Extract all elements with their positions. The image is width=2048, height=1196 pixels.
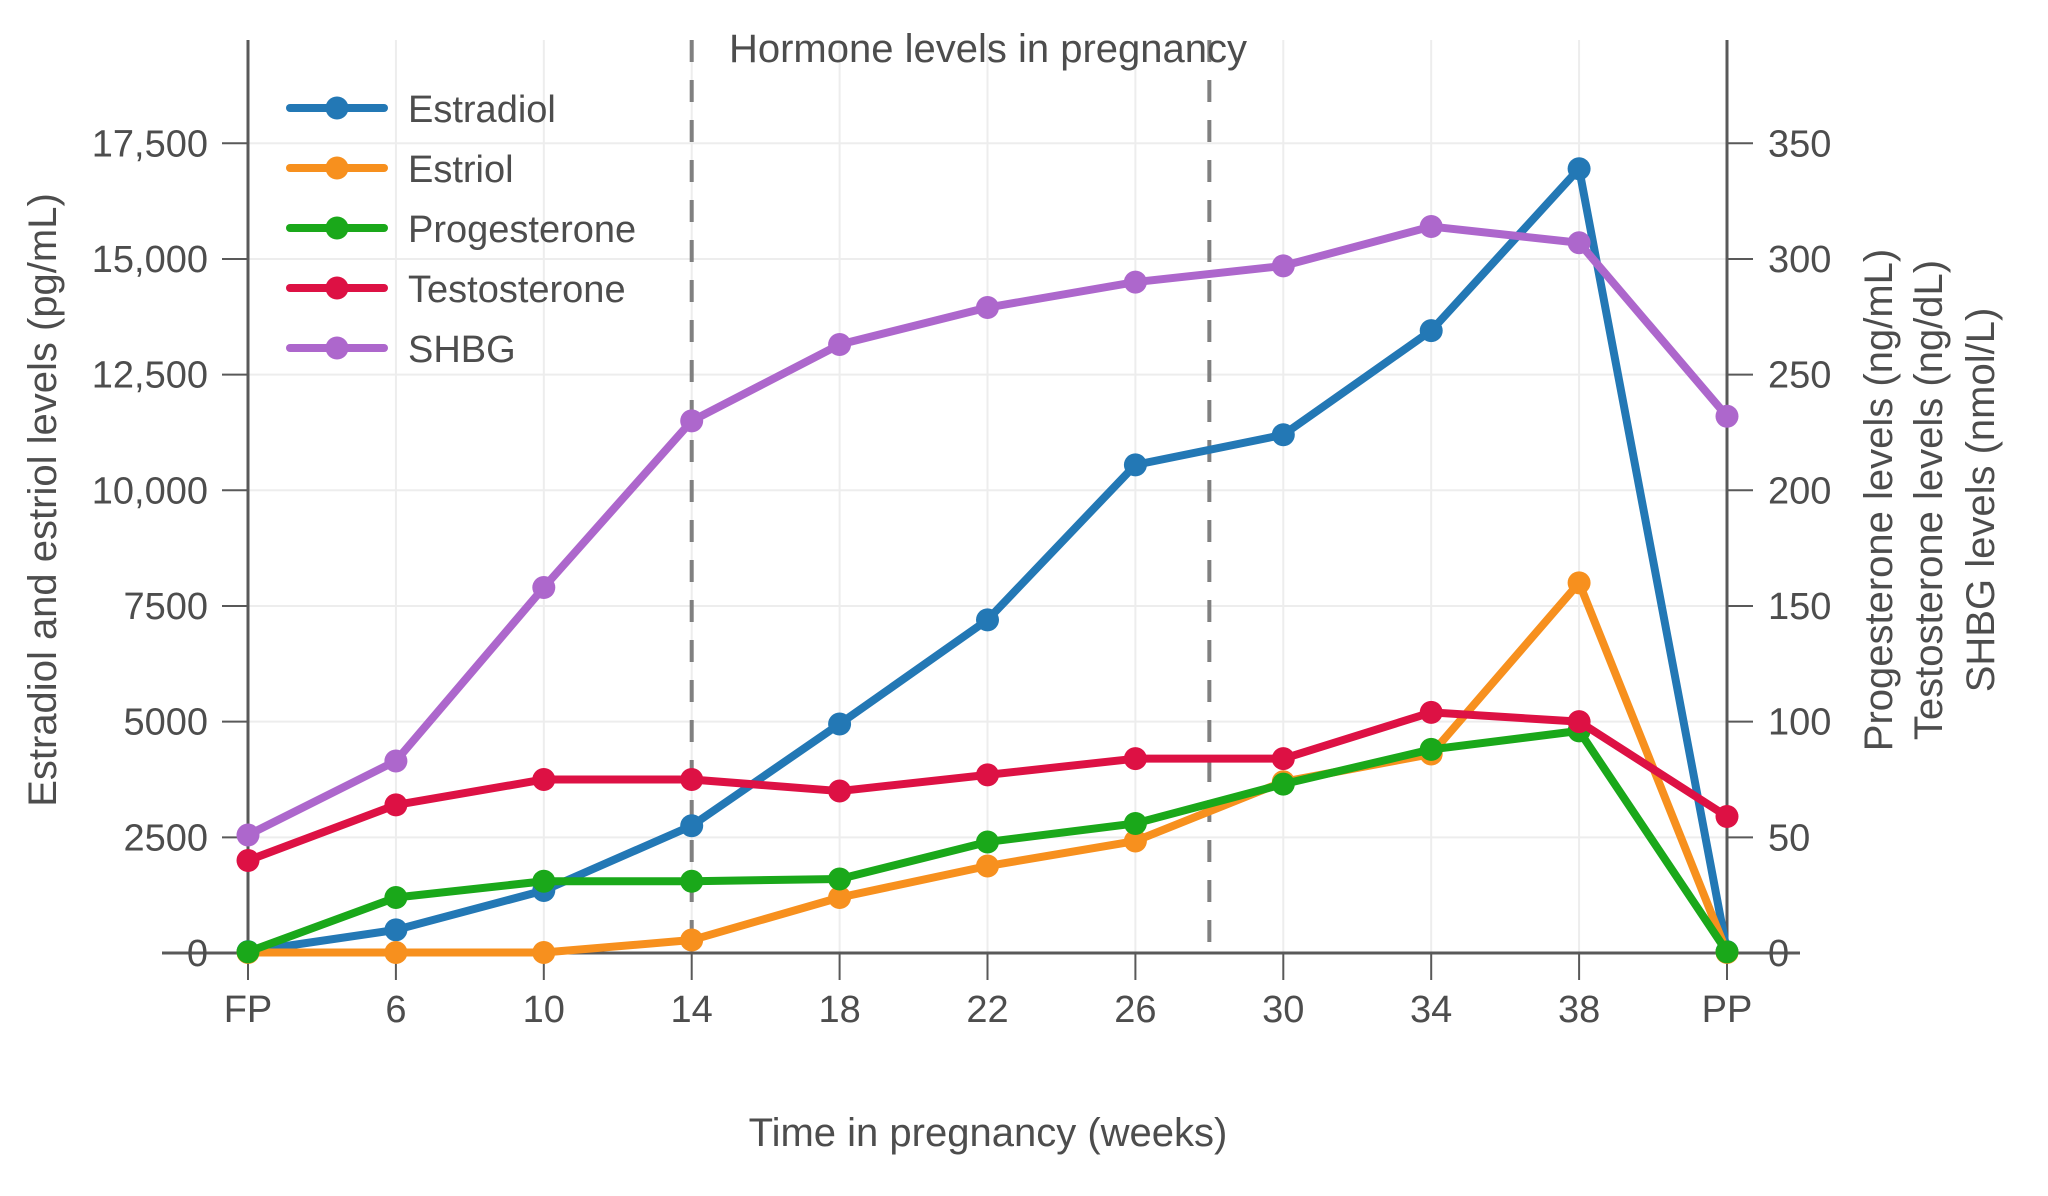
legend-label: Progesterone [408,209,636,251]
tick-label-right: 150 [1768,586,1831,628]
tick-label-x-fp: FP [224,989,273,1031]
data-point[interactable] [1568,571,1591,594]
legend-swatch-marker [326,337,349,360]
data-point[interactable] [976,830,999,853]
legend-label: Estradiol [408,89,556,131]
tick-label-left: 10,000 [92,470,208,512]
data-point[interactable] [1716,940,1739,963]
data-point[interactable] [680,409,703,432]
data-point[interactable] [1272,423,1295,446]
tick-label-left: 17,500 [92,123,208,165]
legend-swatch-marker [326,97,349,120]
tick-label-left: 15,000 [92,239,208,281]
data-point[interactable] [976,608,999,631]
tick-label-x-38: 38 [1558,989,1600,1031]
data-point[interactable] [237,849,260,872]
right-y-axis-title-shbg: SHBG levels (nmol/L) [1959,308,2003,693]
tick-label-right: 200 [1768,470,1831,512]
data-point[interactable] [532,576,555,599]
tick-label-right: 250 [1768,355,1831,397]
data-point[interactable] [1716,405,1739,428]
legend-label: Estriol [408,149,514,191]
data-point[interactable] [384,886,407,909]
tick-label-left: 5000 [123,702,208,744]
data-point[interactable] [237,940,260,963]
data-point[interactable] [976,296,999,319]
hormone-levels-line-chart: 025005000750010,00012,50015,00017,500 05… [0,0,2048,1196]
data-point[interactable] [1420,215,1443,238]
tick-label-left: 0 [187,933,208,975]
data-point[interactable] [1568,710,1591,733]
data-point[interactable] [680,814,703,837]
data-point[interactable] [1124,812,1147,835]
data-point[interactable] [1272,773,1295,796]
data-point[interactable] [1420,738,1443,761]
data-point[interactable] [1272,747,1295,770]
data-point[interactable] [1420,701,1443,724]
tick-label-x-18: 18 [818,989,860,1031]
left-y-axis-title: Estradiol and estriol levels (pg/mL) [21,193,65,807]
tick-label-right: 300 [1768,239,1831,281]
tick-label-x-34: 34 [1410,989,1452,1031]
data-point[interactable] [828,867,851,890]
data-point[interactable] [680,768,703,791]
right-y-axis-title-testosterone: Testosterone levels (ng/dL) [1907,260,1951,740]
tick-label-x-26: 26 [1114,989,1156,1031]
tick-label-x-14: 14 [671,989,713,1031]
data-point[interactable] [532,941,555,964]
legend-swatch-marker [326,157,349,180]
x-axis-title: Time in pregnancy (weeks) [749,1111,1228,1155]
data-point[interactable] [1124,271,1147,294]
data-point[interactable] [1420,319,1443,342]
data-point[interactable] [1272,254,1295,277]
tick-label-x-30: 30 [1262,989,1304,1031]
data-point[interactable] [532,870,555,893]
data-point[interactable] [384,941,407,964]
data-point[interactable] [384,918,407,941]
right-y-axis-title-progesterone: Progesterone levels (ng/mL) [1857,249,1901,751]
chart-title: Hormone levels in pregnancy [729,27,1247,71]
tick-label-left: 12,500 [92,355,208,397]
data-point[interactable] [828,712,851,735]
data-point[interactable] [976,763,999,786]
legend-label: SHBG [408,329,516,371]
data-point[interactable] [1124,453,1147,476]
data-point[interactable] [680,929,703,952]
data-point[interactable] [1568,231,1591,254]
chart-container: 025005000750010,00012,50015,00017,500 05… [0,0,2048,1196]
tick-label-right: 100 [1768,702,1831,744]
tick-label-right: 350 [1768,123,1831,165]
data-point[interactable] [976,855,999,878]
tick-label-left: 7500 [123,586,208,628]
data-point[interactable] [680,870,703,893]
legend-swatch-marker [326,277,349,300]
data-point[interactable] [384,749,407,772]
tick-label-right: 50 [1768,817,1810,859]
tick-label-x-pp: PP [1702,989,1753,1031]
data-point[interactable] [828,333,851,356]
data-point[interactable] [828,780,851,803]
legend-swatch-marker [326,217,349,240]
tick-label-x-6: 6 [385,989,406,1031]
tick-label-x-22: 22 [966,989,1008,1031]
tick-label-right: 0 [1768,933,1789,975]
data-point[interactable] [1716,805,1739,828]
legend-label: Testosterone [408,269,626,311]
data-point[interactable] [532,768,555,791]
data-point[interactable] [384,793,407,816]
data-point[interactable] [237,824,260,847]
tick-label-x-10: 10 [523,989,565,1031]
data-point[interactable] [1568,157,1591,180]
data-point[interactable] [1124,747,1147,770]
tick-label-left: 2500 [123,817,208,859]
